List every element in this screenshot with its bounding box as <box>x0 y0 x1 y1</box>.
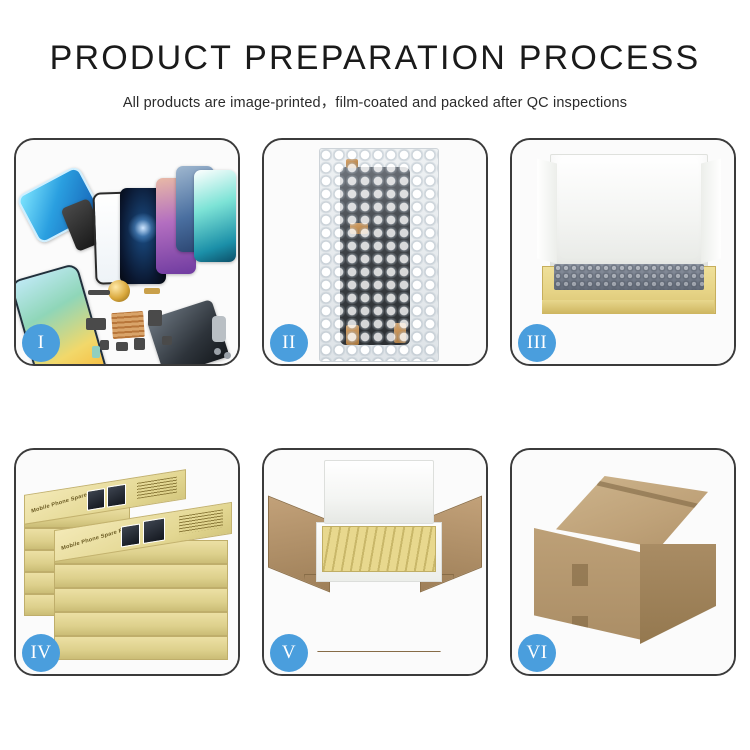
box-front-edge <box>542 300 714 314</box>
stacked-box <box>54 564 228 588</box>
logic-board-chip-icon <box>111 311 145 339</box>
spare-part-icon <box>144 288 160 294</box>
spare-part-icon <box>86 318 106 330</box>
page-header: PRODUCT PREPARATION PROCESS All products… <box>0 0 750 112</box>
stacked-box <box>54 636 228 660</box>
foam-lid-icon <box>550 154 708 274</box>
box-label-photo <box>107 484 126 508</box>
step-badge-6: VI <box>518 634 556 672</box>
carton-body-icon <box>304 574 454 652</box>
bubble-wrapped-contents-icon <box>554 264 704 290</box>
yellow-boxes-inside-icon <box>322 526 436 572</box>
process-step-card-5[interactable]: V <box>262 448 488 676</box>
page-subtitle: All products are image-printed，film-coat… <box>0 91 750 112</box>
screw-icon <box>224 352 231 359</box>
box-label-photo <box>143 518 165 544</box>
spare-part-icon <box>162 336 172 345</box>
spare-part-icon <box>100 340 109 350</box>
process-step-card-4[interactable]: Mobile Phone Spare Parts Mobile Phone Sp… <box>14 448 240 676</box>
process-step-card-1[interactable]: I <box>14 138 240 366</box>
carton-tape-seam <box>597 481 715 513</box>
step-badge-2: II <box>270 324 308 362</box>
carton-top-face <box>556 476 708 548</box>
spare-part-icon <box>212 316 226 342</box>
page-title: PRODUCT PREPARATION PROCESS <box>0 40 750 77</box>
bubble-wrap-bag-icon <box>319 148 439 362</box>
copper-coil-part-icon <box>108 280 130 302</box>
spare-part-icon <box>92 346 100 358</box>
carton-hand-tab <box>572 564 588 586</box>
process-step-grid: I II <box>14 138 736 676</box>
spare-part-icon <box>88 290 110 295</box>
box-label-photo <box>87 488 105 511</box>
step-badge-4: IV <box>22 634 60 672</box>
box-label-photo <box>121 523 140 547</box>
foam-lid-open-icon <box>324 460 434 524</box>
carton-front-face <box>534 528 642 640</box>
spare-part-icon <box>134 338 145 350</box>
teal-gradient-phone-icon <box>194 170 236 262</box>
bubble-texture-overlay <box>320 149 438 361</box>
box-stack-group: Mobile Phone Spare Parts Mobile Phone Sp… <box>24 466 234 666</box>
stacked-box <box>54 612 228 636</box>
box-label-lines <box>137 477 177 499</box>
step-badge-1: I <box>22 324 60 362</box>
screw-icon <box>214 348 221 355</box>
spare-part-icon <box>148 310 162 326</box>
process-step-card-2[interactable]: II <box>262 138 488 366</box>
box-label-lines <box>179 509 223 534</box>
step-badge-3: III <box>518 324 556 362</box>
carton-side-face <box>640 544 716 644</box>
process-step-card-3[interactable]: III <box>510 138 736 366</box>
carton-hand-tab <box>572 616 588 638</box>
process-step-card-6[interactable]: VI <box>510 448 736 676</box>
sealed-carton-icon <box>534 476 716 646</box>
spare-part-icon <box>116 342 128 351</box>
stacked-box <box>54 588 228 612</box>
step-badge-5: V <box>270 634 308 672</box>
